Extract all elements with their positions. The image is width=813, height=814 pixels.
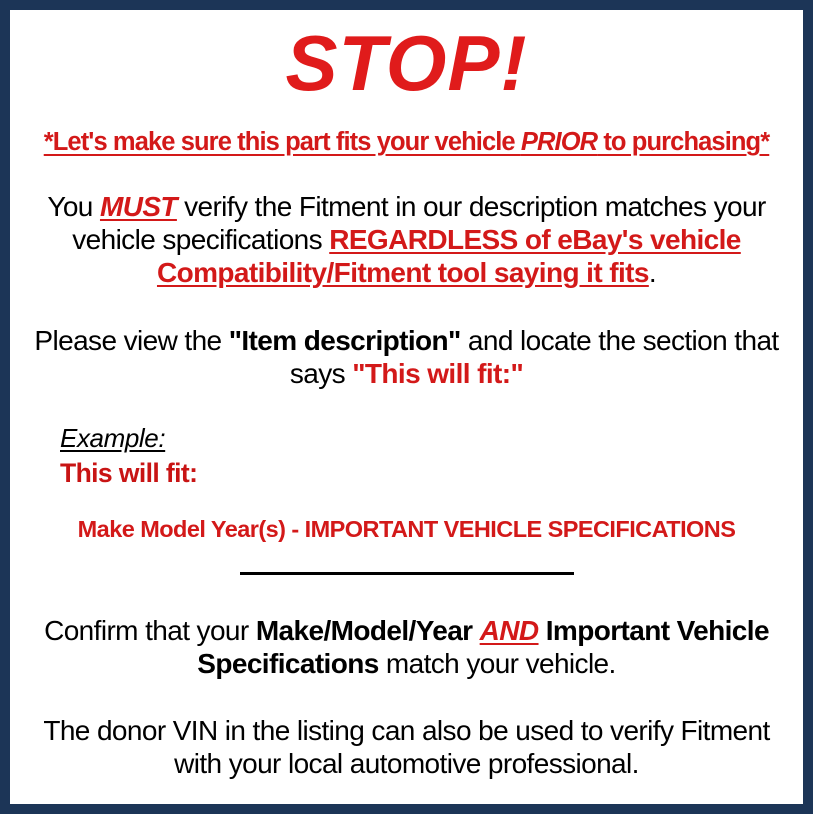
example-label: Example: (60, 424, 789, 454)
please-view-paragraph: Please view the "Item description" and l… (24, 324, 789, 390)
confirm-seg-3 (539, 615, 546, 646)
example-fit-heading: This will fit: (60, 458, 789, 490)
tagline-text-after: to purchasing* (597, 128, 769, 156)
please-seg-1: Please view the (34, 325, 228, 356)
must-seg-3: . (649, 257, 656, 288)
divider-container (24, 565, 789, 583)
confirm-seg-4: match your vehicle. (379, 648, 616, 679)
stop-headline: STOP! (24, 24, 789, 102)
and-emphasis: AND (480, 615, 539, 646)
example-block: Example: This will fit: (24, 424, 789, 490)
this-will-fit-emphasis: "This will fit:" (352, 358, 523, 389)
donor-vin-paragraph: The donor VIN in the listing can also be… (24, 714, 789, 780)
make-model-year-emphasis: Make/Model/Year (256, 615, 473, 646)
example-spec-line: Make Model Year(s) - IMPORTANT VEHICLE S… (24, 517, 789, 543)
must-emphasis: MUST (100, 191, 177, 222)
must-verify-paragraph: You MUST verify the Fitment in our descr… (24, 190, 789, 289)
confirm-seg-1: Confirm that your (44, 615, 256, 646)
notice-content: STOP! *Let's make sure this part fits yo… (10, 24, 803, 814)
confirm-paragraph: Confirm that your Make/Model/Year AND Im… (24, 614, 789, 680)
fitment-notice-card: STOP! *Let's make sure this part fits yo… (0, 0, 813, 814)
must-seg-1: You (47, 191, 100, 222)
fitment-tagline: *Let's make sure this part fits your veh… (24, 128, 789, 156)
horizontal-divider (240, 572, 574, 575)
tagline-text-before: *Let's make sure this part fits your veh… (44, 128, 521, 156)
confirm-seg-2 (472, 615, 479, 646)
item-description-emphasis: "Item description" (229, 325, 461, 356)
tagline-emphasis-prior: PRIOR (521, 128, 597, 156)
